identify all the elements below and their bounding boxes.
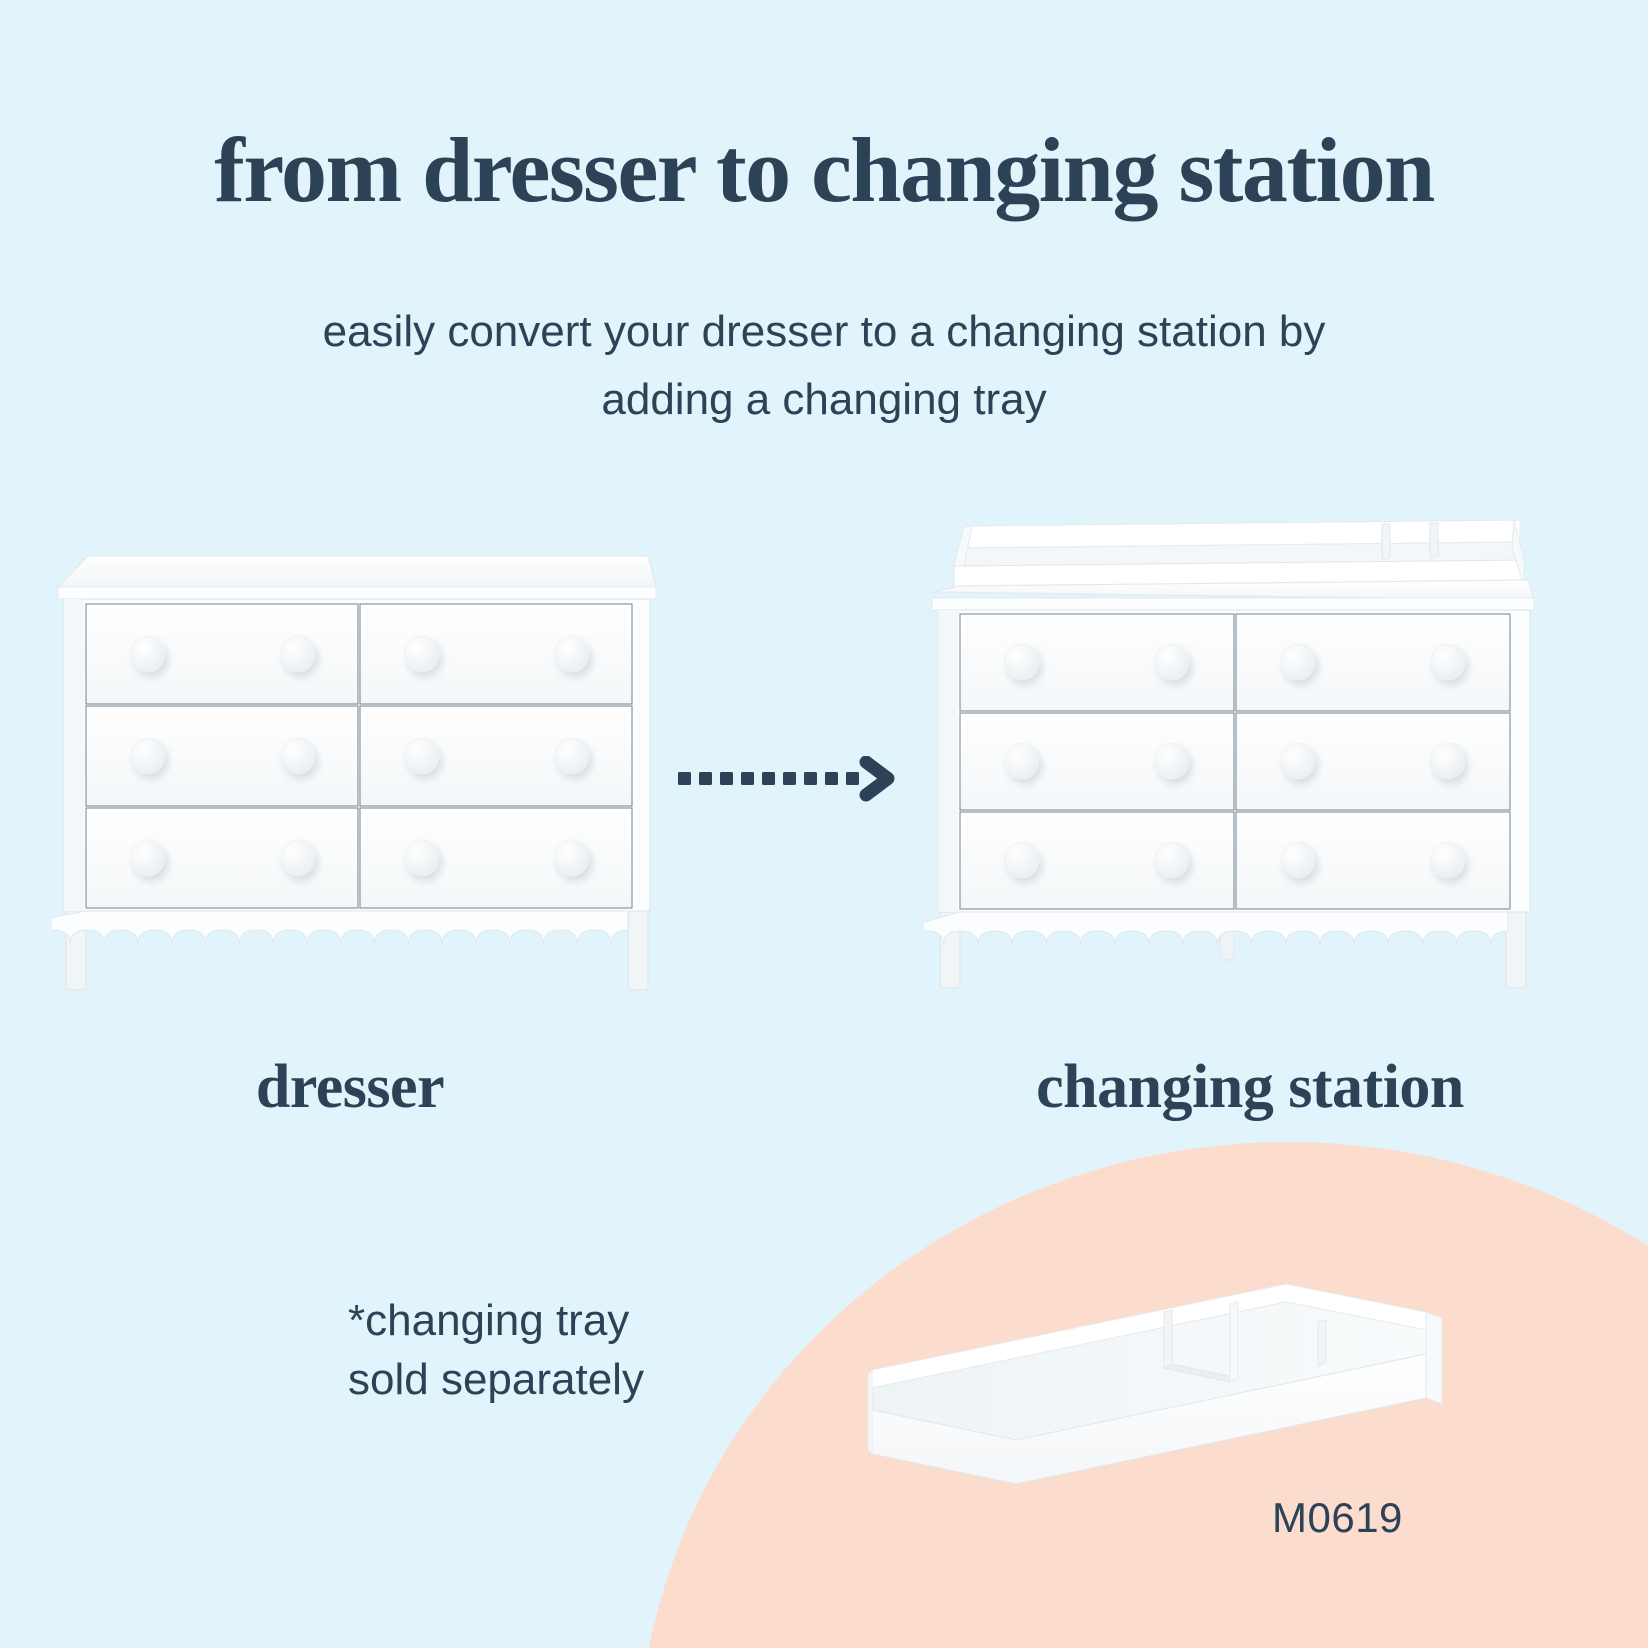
- page-title: from dresser to changing station: [0, 124, 1648, 218]
- sku-code: M0619: [1272, 1494, 1403, 1542]
- caption-dresser: dresser: [0, 1052, 700, 1123]
- dotted-right-arrow-icon: [676, 756, 898, 802]
- product-illustration-changing-tray: [866, 1258, 1466, 1498]
- caption-changing-station: changing station: [880, 1052, 1620, 1123]
- footnote-changing-tray-sold-separately: *changing tray sold separately: [348, 1292, 644, 1410]
- product-illustration-changing-station: [924, 508, 1544, 994]
- page-subtitle: easily convert your dresser to a changin…: [274, 298, 1374, 434]
- infographic-canvas: from dresser to changing station easily …: [0, 0, 1648, 1648]
- product-illustration-dresser: [52, 532, 662, 994]
